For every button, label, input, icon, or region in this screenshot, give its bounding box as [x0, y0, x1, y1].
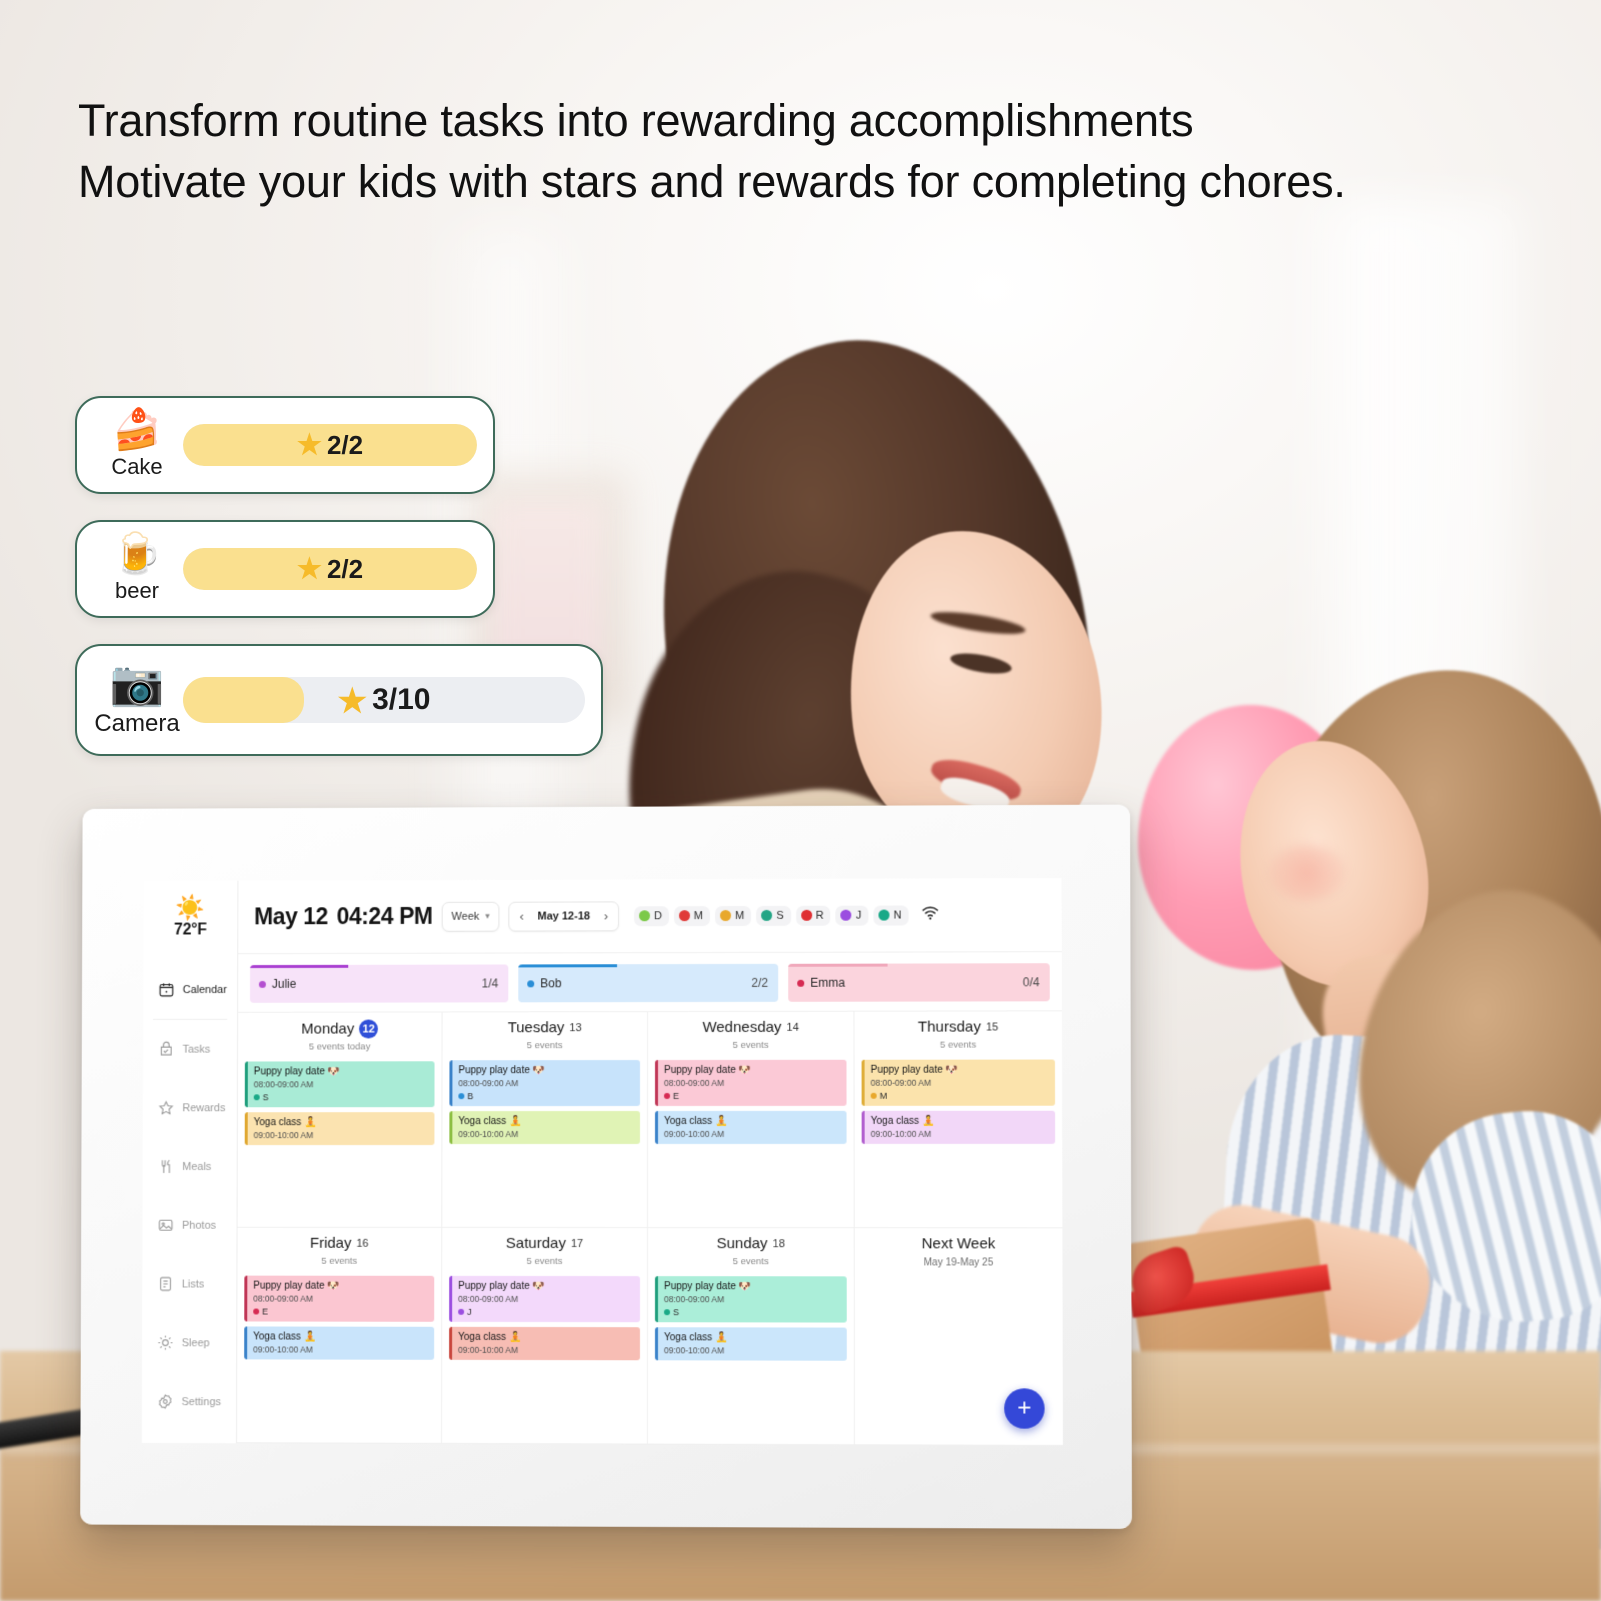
date-time-display: May 1204:24 PM: [254, 903, 432, 930]
sidebar-item-label: Lists: [182, 1278, 204, 1290]
event-time: 08:00-09:00 AM: [254, 1079, 429, 1089]
day-number: 16: [356, 1237, 368, 1249]
reward-count-value: 2/2: [327, 430, 363, 461]
event-card[interactable]: Puppy play date 🐶 08:00-09:00 AM M: [862, 1060, 1055, 1106]
current-date: May 12: [254, 903, 328, 929]
dog-icon: 🐶: [739, 1281, 752, 1292]
star-icon: ★: [297, 555, 322, 583]
sidebar-item-label: Photos: [182, 1219, 216, 1231]
day-name: Wednesday: [702, 1019, 781, 1036]
day-events: Puppy play date 🐶 08:00-09:00 AM E: [237, 1271, 441, 1360]
camera-icon: 📷: [110, 662, 165, 706]
reward-icon-column: 📷 Camera: [91, 662, 183, 738]
headline-line-1: Transform routine tasks into rewarding a…: [78, 96, 1498, 146]
sidebar-item-lists[interactable]: Lists: [142, 1255, 236, 1314]
dog-icon: 🐶: [328, 1066, 340, 1077]
day-name-wrap: Friday 16: [310, 1235, 369, 1252]
sidebar-item-tasks[interactable]: Tasks: [143, 1020, 237, 1079]
event-title-row: Yoga class 🧘: [664, 1332, 841, 1343]
reward-progress-fill: [183, 677, 304, 723]
day-event-count: 5 events: [443, 1040, 648, 1051]
member-color-dot: [639, 910, 650, 921]
reward-cards: 🍰 Cake ★ 2/2 🍺 beer ★ 2/2: [75, 396, 603, 782]
member-chip[interactable]: M: [715, 905, 751, 925]
week-range-label: May 12-18: [538, 910, 590, 922]
day-events: Puppy play date 🐶 08:00-09:00 AM S: [648, 1271, 854, 1361]
star-icon: ★: [338, 684, 368, 717]
day-name: Tuesday: [508, 1019, 565, 1036]
day-events: Puppy play date 🐶 08:00-09:00 AM B: [442, 1055, 647, 1144]
dog-icon: 🐶: [946, 1065, 959, 1076]
next-week-title: Next Week: [922, 1235, 996, 1252]
event-time: 09:00-10:00 AM: [664, 1345, 841, 1355]
member-initial: M: [694, 910, 703, 922]
temperature-value: 72°F: [174, 921, 206, 939]
day-name-wrap: Monday 12: [301, 1020, 378, 1039]
calendar-week-grid: Monday 12 5 events today Puppy play date…: [237, 1011, 1063, 1446]
member-initial: S: [776, 909, 783, 921]
member-chip[interactable]: R: [796, 905, 831, 925]
member-progress-row: Julie 1/4 Bob 2/2 Emma 0/4: [238, 952, 1062, 1013]
person-progress-julie[interactable]: Julie 1/4: [250, 964, 508, 1002]
member-initial: J: [856, 909, 862, 921]
event-title: Yoga class: [871, 1116, 919, 1127]
owner-initial: M: [880, 1091, 888, 1101]
yoga-icon: 🧘: [715, 1332, 727, 1343]
day-name: Monday: [301, 1021, 354, 1038]
member-color-dot: [761, 910, 772, 921]
tasks-icon: [157, 1040, 175, 1058]
day-events: Puppy play date 🐶 08:00-09:00 AM E: [648, 1055, 854, 1144]
event-title: Yoga class: [458, 1332, 506, 1343]
main-content: May 1204:24 PM Week ▾ ‹ May 12-18 › D M: [237, 878, 1063, 1446]
reward-count-value: 3/10: [372, 683, 430, 717]
event-title-row: Yoga class 🧘: [458, 1332, 634, 1343]
member-color-dot: [720, 910, 731, 921]
person-progress-emma[interactable]: Emma 0/4: [788, 963, 1050, 1002]
event-time: 09:00-10:00 AM: [664, 1129, 841, 1139]
reward-progress-bar: ★ 3/10: [183, 677, 585, 723]
event-owner: J: [458, 1307, 634, 1317]
event-card[interactable]: Puppy play date 🐶 08:00-09:00 AM S: [655, 1276, 847, 1322]
owner-color-dot: [458, 1093, 464, 1099]
next-week-button[interactable]: ›: [600, 908, 612, 923]
event-time: 09:00-10:00 AM: [458, 1345, 634, 1355]
day-name: Friday: [310, 1235, 351, 1252]
day-header: Sunday 18 5 events: [648, 1228, 854, 1271]
event-title-row: Puppy play date 🐶: [253, 1281, 428, 1292]
day-cell-thursday[interactable]: Thursday 15 5 events Puppy play date 🐶: [854, 1011, 1062, 1228]
event-title-row: Puppy play date 🐶: [871, 1065, 1049, 1076]
event-title-row: Yoga class 🧘: [458, 1116, 634, 1127]
day-cell-saturday[interactable]: Saturday 17 5 events Puppy play date 🐶: [442, 1228, 648, 1445]
reward-card-camera[interactable]: 📷 Camera ★ 3/10: [75, 644, 603, 756]
day-header: Wednesday 14 5 events: [648, 1012, 853, 1055]
reward-card-cake[interactable]: 🍰 Cake ★ 2/2: [75, 396, 495, 494]
yoga-icon: 🧘: [509, 1332, 521, 1343]
event-title: Yoga class: [253, 1331, 301, 1342]
event-card[interactable]: Yoga class 🧘 09:00-10:00 AM: [655, 1327, 847, 1361]
day-name: Sunday: [717, 1235, 768, 1252]
event-owner: E: [664, 1091, 840, 1101]
sidebar-item-label: Sleep: [182, 1337, 210, 1349]
cutlery-icon: [156, 1158, 174, 1176]
day-event-count: 5 events: [237, 1256, 441, 1267]
day-header: Thursday 15 5 events: [854, 1011, 1062, 1054]
event-title-row: Yoga class 🧘: [254, 1117, 429, 1128]
owner-initial: J: [467, 1307, 471, 1317]
yoga-icon: 🧘: [715, 1116, 727, 1127]
dog-icon: 🐶: [327, 1281, 339, 1292]
chevron-down-icon: ▾: [485, 911, 490, 922]
day-header: Friday 16 5 events: [237, 1228, 441, 1271]
owner-initial: S: [673, 1307, 679, 1317]
yoga-icon: 🧘: [304, 1117, 316, 1128]
event-time: 09:00-10:00 AM: [253, 1344, 428, 1354]
sidebar-item-calendar[interactable]: Calendar: [143, 960, 237, 1019]
event-time: 08:00-09:00 AM: [458, 1294, 634, 1304]
view-selector[interactable]: Week ▾: [442, 901, 500, 931]
person-name: Emma: [810, 976, 845, 990]
day-event-count: 5 events: [855, 1039, 1062, 1050]
day-cell-next-week[interactable]: Next Week May 19-May 25 +: [855, 1228, 1063, 1446]
sidebar-item-photos[interactable]: Photos: [142, 1196, 236, 1255]
member-initial: R: [816, 909, 824, 921]
event-card[interactable]: Puppy play date 🐶 08:00-09:00 AM B: [449, 1060, 640, 1106]
day-events: Puppy play date 🐶 08:00-09:00 AM S: [238, 1056, 442, 1145]
day-cell-sunday[interactable]: Sunday 18 5 events Puppy play date 🐶: [648, 1228, 855, 1445]
dog-icon: 🐶: [739, 1065, 751, 1076]
member-chip[interactable]: D: [634, 906, 669, 926]
week-navigator: ‹ May 12-18 ›: [509, 901, 619, 931]
reward-label: beer: [115, 578, 159, 604]
owner-color-dot: [664, 1309, 670, 1315]
day-name: Thursday: [918, 1018, 981, 1035]
day-number: 15: [986, 1021, 998, 1033]
owner-color-dot: [664, 1093, 670, 1099]
event-card[interactable]: Yoga class 🧘 09:00-10:00 AM: [655, 1111, 847, 1144]
sidebar-nav: Calendar Tasks Rewards: [142, 954, 237, 1443]
day-cell-tuesday[interactable]: Tuesday 13 5 events Puppy play date 🐶: [442, 1012, 648, 1228]
gear-icon: [156, 1393, 174, 1411]
event-title: Puppy play date: [458, 1065, 529, 1076]
event-title-row: Yoga class 🧘: [253, 1331, 428, 1342]
tablet-device: ☀️ 72°F Calendar Tas: [80, 805, 1132, 1529]
person-name: Bob: [540, 976, 561, 990]
member-color-dot: [801, 910, 812, 921]
event-owner: B: [458, 1091, 634, 1101]
person-accent-bar: [518, 964, 617, 967]
owner-color-dot: [253, 1309, 259, 1315]
reward-count: ★ 3/10: [338, 683, 431, 717]
yoga-icon: 🧘: [304, 1332, 316, 1343]
day-number: 13: [569, 1022, 581, 1034]
sidebar-item-label: Calendar: [183, 984, 227, 996]
day-cell-monday[interactable]: Monday 12 5 events today Puppy play date…: [238, 1012, 443, 1227]
owner-color-dot: [871, 1093, 877, 1099]
reward-progress-bar: ★ 2/2: [183, 548, 477, 590]
sidebar-item-label: Meals: [182, 1161, 211, 1173]
star-icon: ★: [297, 431, 322, 459]
event-card[interactable]: Puppy play date 🐶 08:00-09:00 AM S: [245, 1061, 435, 1107]
member-filter-chips: D M M S R J N: [634, 905, 909, 926]
member-color-dot: [679, 910, 690, 921]
day-name-wrap: Saturday 17: [506, 1235, 583, 1252]
day-name-wrap: Wednesday 14: [702, 1019, 798, 1036]
event-time: 08:00-09:00 AM: [871, 1078, 1049, 1088]
owner-initial: S: [263, 1092, 269, 1102]
event-time: 09:00-10:00 AM: [458, 1129, 634, 1139]
day-header: Monday 12 5 events today: [238, 1012, 442, 1056]
event-title: Yoga class: [458, 1116, 506, 1127]
day-event-count: 5 events today: [238, 1041, 442, 1052]
day-events: Puppy play date 🐶 08:00-09:00 AM J: [442, 1271, 647, 1360]
event-title-row: Yoga class 🧘: [664, 1116, 841, 1127]
event-title: Puppy play date: [253, 1281, 324, 1292]
event-title: Puppy play date: [458, 1281, 530, 1292]
day-event-count: 5 events: [648, 1040, 853, 1051]
event-card[interactable]: Yoga class 🧘 09:00-10:00 AM: [245, 1112, 435, 1145]
day-event-count: 5 events: [442, 1256, 647, 1267]
event-title-row: Puppy play date 🐶: [458, 1281, 634, 1292]
day-number: 18: [773, 1238, 785, 1250]
owner-color-dot: [458, 1309, 464, 1315]
day-header: Tuesday 13 5 events: [443, 1012, 648, 1055]
sidebar-item-label: Settings: [182, 1396, 221, 1408]
event-owner: M: [871, 1091, 1049, 1101]
reward-label: Camera: [94, 710, 179, 738]
sidebar-item-settings[interactable]: Settings: [142, 1372, 236, 1431]
member-initial: N: [894, 909, 902, 921]
reward-count: ★ 2/2: [297, 554, 363, 585]
event-time: 08:00-09:00 AM: [664, 1078, 840, 1088]
event-time: 09:00-10:00 AM: [871, 1129, 1049, 1139]
star-icon: [157, 1099, 175, 1117]
day-name-wrap: Sunday 18: [717, 1235, 785, 1252]
sidebar-item-rewards[interactable]: Rewards: [143, 1078, 237, 1137]
add-event-button[interactable]: +: [1004, 1388, 1045, 1428]
member-chip[interactable]: M: [674, 906, 710, 926]
event-title-row: Puppy play date 🐶: [458, 1065, 634, 1076]
person-color-dot: [527, 980, 534, 987]
cake-icon: 🍰: [112, 410, 162, 450]
sidebar-item-label: Rewards: [182, 1102, 225, 1114]
person-progress-bob[interactable]: Bob 2/2: [518, 964, 778, 1002]
event-title-row: Puppy play date 🐶: [254, 1066, 429, 1077]
sidebar-item-label: Tasks: [183, 1043, 211, 1055]
weather-widget[interactable]: ☀️ 72°F: [143, 881, 237, 955]
reward-card-beer[interactable]: 🍺 beer ★ 2/2: [75, 520, 495, 618]
event-owner: S: [664, 1307, 841, 1317]
member-initial: D: [654, 910, 662, 922]
yoga-icon: 🧘: [922, 1116, 935, 1127]
event-time: 08:00-09:00 AM: [664, 1294, 841, 1304]
member-initial: M: [735, 909, 744, 921]
event-title-row: Puppy play date 🐶: [664, 1281, 841, 1292]
wifi-icon: [921, 905, 940, 925]
day-number-badge: 12: [359, 1020, 378, 1039]
person-accent-bar: [250, 965, 348, 968]
list-icon: [156, 1275, 174, 1293]
yoga-icon: 🧘: [509, 1116, 521, 1127]
event-time: 08:00-09:00 AM: [458, 1078, 634, 1088]
dog-icon: 🐶: [533, 1065, 545, 1076]
event-title: Yoga class: [254, 1117, 302, 1128]
owner-initial: E: [262, 1307, 268, 1317]
person-color-dot: [797, 979, 804, 986]
person-task-count: 2/2: [751, 976, 768, 990]
headline: Transform routine tasks into rewarding a…: [78, 96, 1498, 208]
calendar-icon: [157, 981, 175, 999]
event-card[interactable]: Yoga class 🧘 09:00-10:00 AM: [862, 1111, 1056, 1144]
event-title: Puppy play date: [254, 1066, 325, 1077]
person-color-dot: [259, 980, 266, 987]
sidebar-item-meals[interactable]: Meals: [143, 1137, 237, 1196]
topbar: May 1204:24 PM Week ▾ ‹ May 12-18 › D M: [238, 878, 1062, 954]
next-week-range: May 19-May 25: [855, 1257, 1063, 1268]
event-title: Puppy play date: [664, 1281, 736, 1292]
event-title: Yoga class: [664, 1116, 712, 1127]
reward-count: ★ 2/2: [297, 430, 363, 461]
dog-icon: 🐶: [533, 1281, 545, 1292]
member-chip[interactable]: S: [756, 905, 790, 925]
event-card[interactable]: Puppy play date 🐶 08:00-09:00 AM E: [655, 1060, 847, 1106]
day-cell-wednesday[interactable]: Wednesday 14 5 events Puppy play date 🐶: [648, 1012, 855, 1228]
sun-icon: ☀️: [176, 896, 206, 920]
day-event-count: 5 events: [648, 1256, 854, 1267]
event-card[interactable]: Yoga class 🧘 09:00-10:00 AM: [244, 1326, 434, 1359]
beer-icon: 🍺: [112, 534, 162, 574]
event-card[interactable]: Yoga class 🧘 09:00-10:00 AM: [449, 1111, 640, 1144]
prev-week-button[interactable]: ‹: [516, 909, 528, 924]
member-color-dot: [841, 910, 852, 921]
day-header: Saturday 17 5 events: [442, 1228, 647, 1271]
member-chip[interactable]: N: [873, 905, 908, 925]
sidebar-item-sleep[interactable]: Sleep: [142, 1313, 236, 1372]
reward-icon-column: 🍺 beer: [91, 534, 183, 604]
event-title-row: Yoga class 🧘: [871, 1116, 1049, 1127]
reward-icon-column: 🍰 Cake: [91, 410, 183, 480]
day-cell-friday[interactable]: Friday 16 5 events Puppy play date 🐶: [237, 1228, 442, 1444]
day-number: 17: [571, 1237, 583, 1249]
tablet-screen: ☀️ 72°F Calendar Tas: [142, 878, 1063, 1446]
sleep-icon: [156, 1334, 174, 1352]
event-card[interactable]: Yoga class 🧘 09:00-10:00 AM: [449, 1327, 640, 1360]
event-time: 09:00-10:00 AM: [254, 1130, 429, 1140]
event-time: 08:00-09:00 AM: [253, 1294, 428, 1304]
person-accent-bar: [788, 964, 887, 967]
event-owner: S: [254, 1092, 429, 1102]
member-color-dot: [878, 910, 889, 921]
day-name: Saturday: [506, 1235, 566, 1252]
sidebar: ☀️ 72°F Calendar Tas: [142, 881, 239, 1444]
photos-icon: [156, 1216, 174, 1234]
owner-initial: B: [467, 1091, 473, 1101]
day-name-wrap: Tuesday 13: [508, 1019, 582, 1036]
event-card[interactable]: Puppy play date 🐶 08:00-09:00 AM E: [244, 1276, 434, 1322]
owner-color-dot: [254, 1094, 260, 1100]
person-task-count: 1/4: [482, 976, 499, 990]
event-owner: E: [253, 1307, 428, 1317]
owner-initial: E: [673, 1091, 679, 1101]
next-week-header: Next Week May 19-May 25: [855, 1228, 1063, 1272]
view-selector-label: Week: [451, 910, 479, 922]
day-name-wrap: Thursday 15: [918, 1018, 998, 1035]
event-title: Puppy play date: [871, 1065, 943, 1076]
event-title: Yoga class: [664, 1332, 712, 1343]
reward-progress-bar: ★ 2/2: [183, 424, 477, 466]
reward-label: Cake: [111, 454, 162, 480]
current-time: 04:24 PM: [337, 903, 433, 929]
event-title: Puppy play date: [664, 1065, 736, 1076]
person-name: Julie: [272, 977, 297, 991]
promo-scene: Transform routine tasks into rewarding a…: [0, 0, 1601, 1601]
reward-count-value: 2/2: [327, 554, 363, 585]
member-chip[interactable]: J: [836, 905, 869, 925]
person-task-count: 0/4: [1023, 975, 1040, 989]
day-events: Puppy play date 🐶 08:00-09:00 AM M: [855, 1054, 1063, 1143]
headline-line-2: Motivate your kids with stars and reward…: [78, 157, 1498, 207]
day-number: 14: [787, 1021, 799, 1033]
event-title-row: Puppy play date 🐶: [664, 1065, 840, 1076]
event-card[interactable]: Puppy play date 🐶 08:00-09:00 AM J: [449, 1276, 640, 1322]
